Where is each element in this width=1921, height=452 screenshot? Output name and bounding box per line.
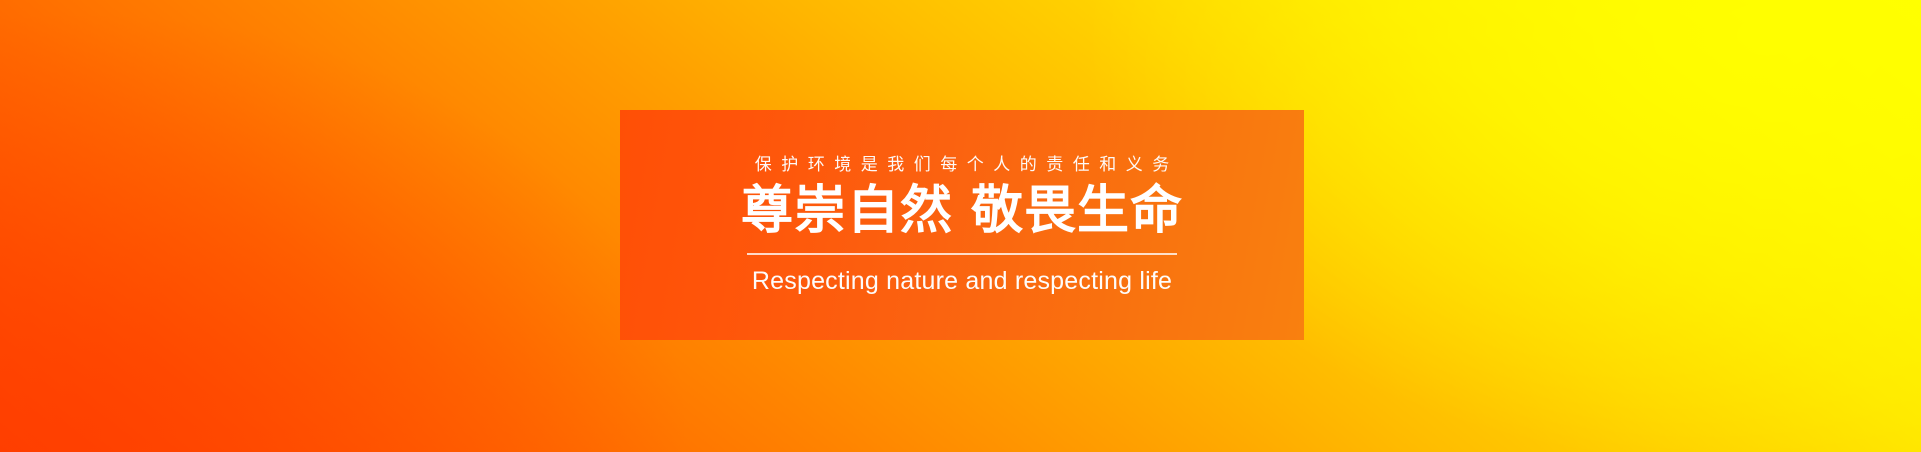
slogan-panel: 保护环境是我们每个人的责任和义务 尊崇自然敬畏生命 Respecting nat… [620, 110, 1304, 340]
headline-chinese-part-2: 敬畏生命 [971, 182, 1183, 240]
headline-divider [747, 253, 1177, 255]
headline-chinese: 尊崇自然敬畏生命 [741, 184, 1183, 238]
headline-chinese-part-1: 尊崇自然 [741, 182, 953, 240]
subtitle-english: Respecting nature and respecting life [752, 269, 1172, 294]
subtitle-chinese: 保护环境是我们每个人的责任和义务 [745, 156, 1179, 173]
slogan-panel-content: 保护环境是我们每个人的责任和义务 尊崇自然敬畏生命 Respecting nat… [620, 156, 1304, 293]
environment-slogan-banner: 保护环境是我们每个人的责任和义务 尊崇自然敬畏生命 Respecting nat… [0, 0, 1921, 452]
